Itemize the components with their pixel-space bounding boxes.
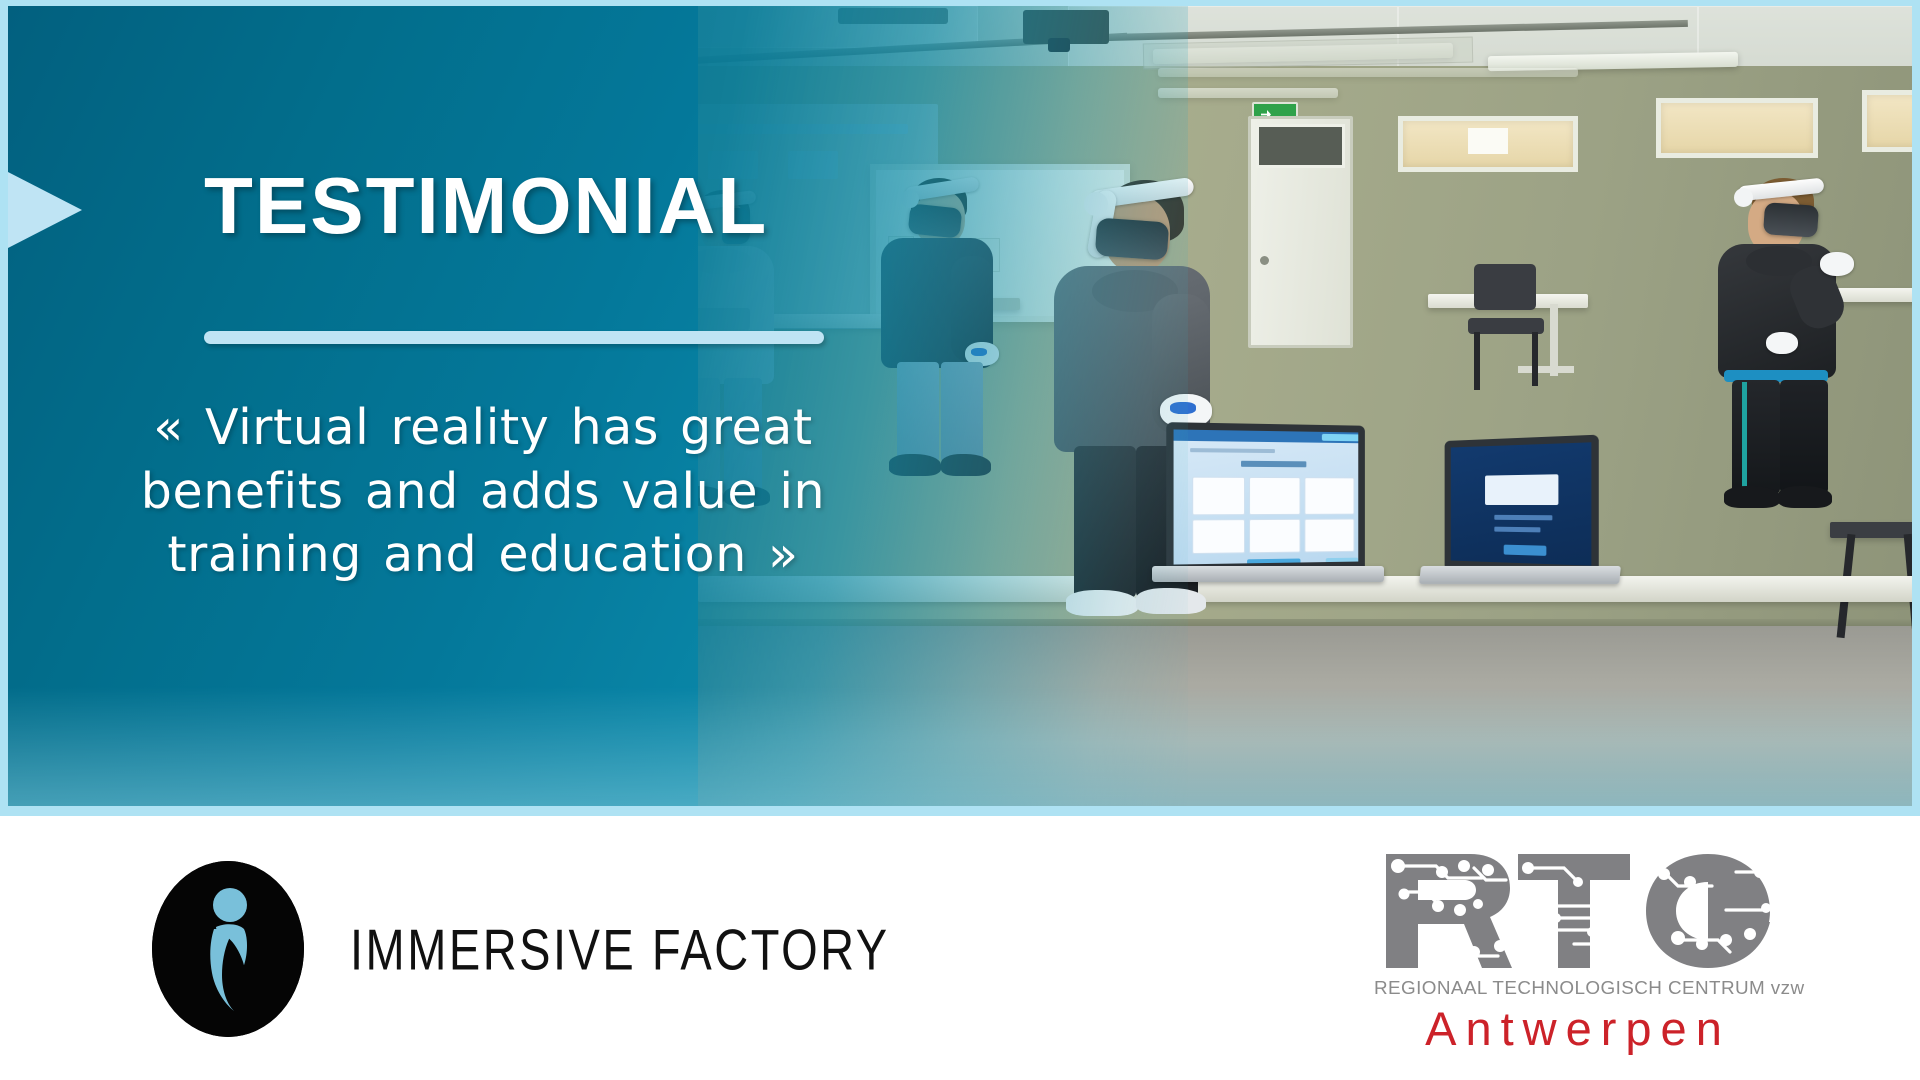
testimonial-page: TESTIMONIAL « Virtual reality has great … — [0, 0, 1920, 1080]
door-vent — [1256, 124, 1345, 168]
immersive-factory-logo[interactable]: IMMERSIVE FACTORY — [152, 861, 890, 1037]
window-paper — [1468, 128, 1508, 154]
rtc-tagline: REGIONAAL TECHNOLOGISCH CENTRUM vzw — [1374, 977, 1782, 999]
vr-headset-visor — [1763, 202, 1819, 238]
banner-inner: TESTIMONIAL « Virtual reality has great … — [8, 6, 1912, 806]
quote-line-1: « Virtual reality has great — [68, 396, 898, 460]
testimonial-quote: « Virtual reality has great benefits and… — [68, 396, 898, 587]
ui-card — [1304, 477, 1354, 515]
ui-button — [1322, 434, 1360, 441]
ui-heading — [1241, 461, 1306, 468]
rtc-city: Antwerpen — [1378, 1001, 1778, 1056]
shoe — [1778, 486, 1832, 508]
interior-window — [1656, 98, 1818, 158]
immersive-factory-wordmark: IMMERSIVE FACTORY — [350, 915, 890, 982]
ui-button — [1504, 545, 1547, 556]
ui-card — [1249, 477, 1300, 515]
ui-line — [1494, 527, 1540, 533]
person-vr-4 — [1708, 174, 1858, 504]
page-title: TESTIMONIAL — [204, 166, 768, 246]
ui-card — [1304, 519, 1354, 553]
ui-line — [1190, 448, 1275, 453]
footer: IMMERSIVE FACTORY — [0, 816, 1920, 1080]
banner-frame: TESTIMONIAL « Virtual reality has great … — [0, 0, 1920, 816]
quote-line-3: training and education » — [68, 523, 898, 587]
chair-back — [1474, 264, 1536, 310]
tracksuit-stripe — [1742, 382, 1747, 492]
table-foot — [1518, 366, 1574, 373]
person-figure-icon — [152, 861, 304, 1037]
light-tube — [1158, 68, 1578, 77]
ui-card — [1249, 519, 1300, 553]
vr-headset-pod — [1734, 188, 1753, 207]
stool-seat — [1830, 522, 1912, 538]
vr-controller — [1820, 252, 1854, 276]
chair-leg — [1532, 332, 1538, 386]
ui-line — [1494, 515, 1552, 521]
laptop-right-screen — [1445, 435, 1599, 574]
rtc-monogram-icon — [1378, 848, 1778, 974]
ui-card — [1192, 519, 1245, 554]
quote-line-2: benefits and adds value in — [68, 460, 898, 524]
laptop-right-base — [1419, 566, 1621, 584]
rtc-logo[interactable]: REGIONAAL TECHNOLOGISCH CENTRUM vzw Antw… — [1378, 848, 1778, 1056]
interior-window — [1862, 90, 1912, 152]
ui-card — [1192, 477, 1245, 516]
chair-leg — [1474, 332, 1480, 390]
leg-tracksuit — [1732, 380, 1780, 494]
shoe — [1724, 486, 1780, 508]
title-divider — [204, 331, 824, 344]
ui-button — [1326, 558, 1359, 566]
leg-tracksuit — [1780, 380, 1828, 494]
vr-controller — [1766, 332, 1798, 354]
door-knob[interactable] — [1260, 256, 1269, 265]
ui-panel — [1485, 474, 1558, 505]
laptop-left-screen — [1166, 422, 1365, 572]
